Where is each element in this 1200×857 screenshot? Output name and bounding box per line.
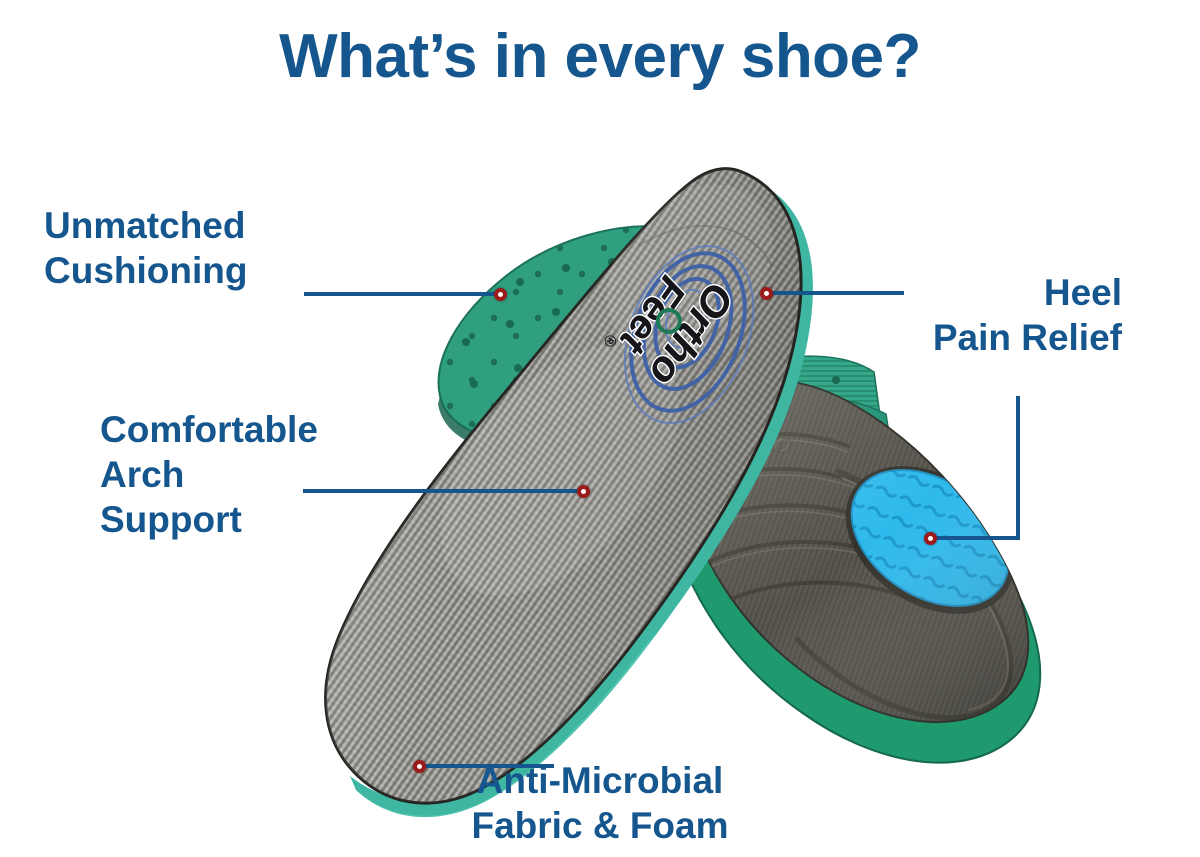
callout-label-heel-pain-relief: Heel Pain Relief: [933, 270, 1122, 360]
infographic-canvas: Ortho: [0, 0, 1200, 857]
callout-dot-arch-support[interactable]: [577, 485, 590, 498]
callout-label-anti-microbial-text: Anti-Microbial Fabric & Foam: [472, 758, 729, 848]
page-title: What’s in every shoe?: [0, 24, 1200, 89]
callout-label-cushioning: Unmatched Cushioning: [44, 203, 247, 293]
callout-dot-heel-gel[interactable]: [924, 532, 937, 545]
callout-label-arch-support: Comfortable Arch Support: [100, 407, 318, 542]
callout-dot-cushioning[interactable]: [494, 288, 507, 301]
callout-label-anti-microbial: Anti-Microbial Fabric & Foam: [0, 713, 1200, 848]
callout-dot-heel-pain[interactable]: [760, 287, 773, 300]
